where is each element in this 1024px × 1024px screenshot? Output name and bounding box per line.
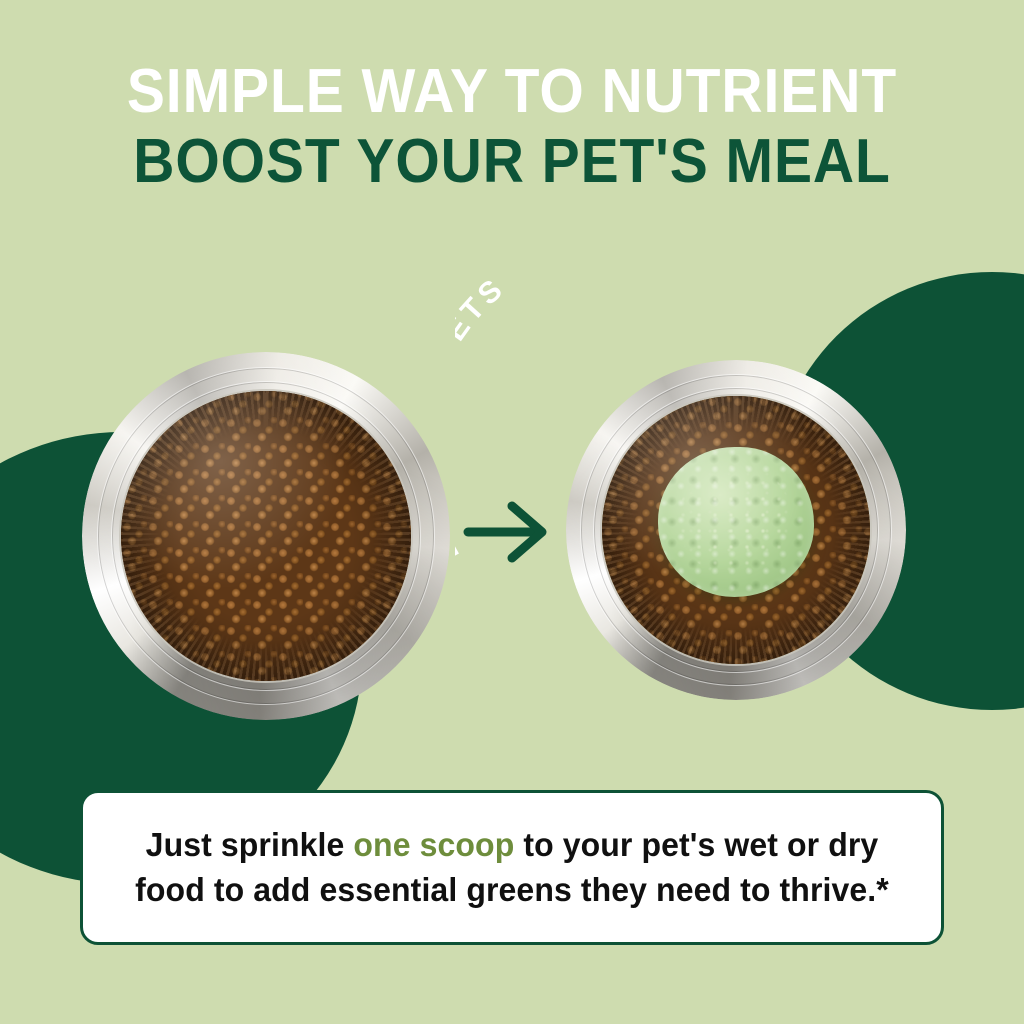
headline: SIMPLE WAY TO NUTRIENT BOOST YOUR PET'S … bbox=[0, 62, 1024, 192]
bowl-before bbox=[82, 352, 450, 720]
caption-text: Just sprinkle one scoop to your pet's we… bbox=[96, 823, 928, 913]
bowl-food-well bbox=[602, 396, 870, 664]
bowl-well-gloss bbox=[602, 396, 870, 664]
arrow-right-icon bbox=[462, 496, 554, 568]
headline-line-2: BOOST YOUR PET'S MEAL bbox=[41, 132, 983, 192]
promo-poster: SIMPLE WAY TO NUTRIENT BOOST YOUR PET'S … bbox=[0, 0, 1024, 1024]
headline-line-1: SIMPLE WAY TO NUTRIENT bbox=[41, 62, 983, 122]
bowl-well-gloss bbox=[121, 391, 411, 681]
caption-highlight: one scoop bbox=[353, 826, 514, 863]
caption-card: Just sprinkle one scoop to your pet's we… bbox=[80, 790, 944, 945]
bowl-after bbox=[566, 360, 906, 700]
caption-text-before: Just sprinkle bbox=[146, 826, 354, 863]
bowl-food-well bbox=[121, 391, 411, 681]
